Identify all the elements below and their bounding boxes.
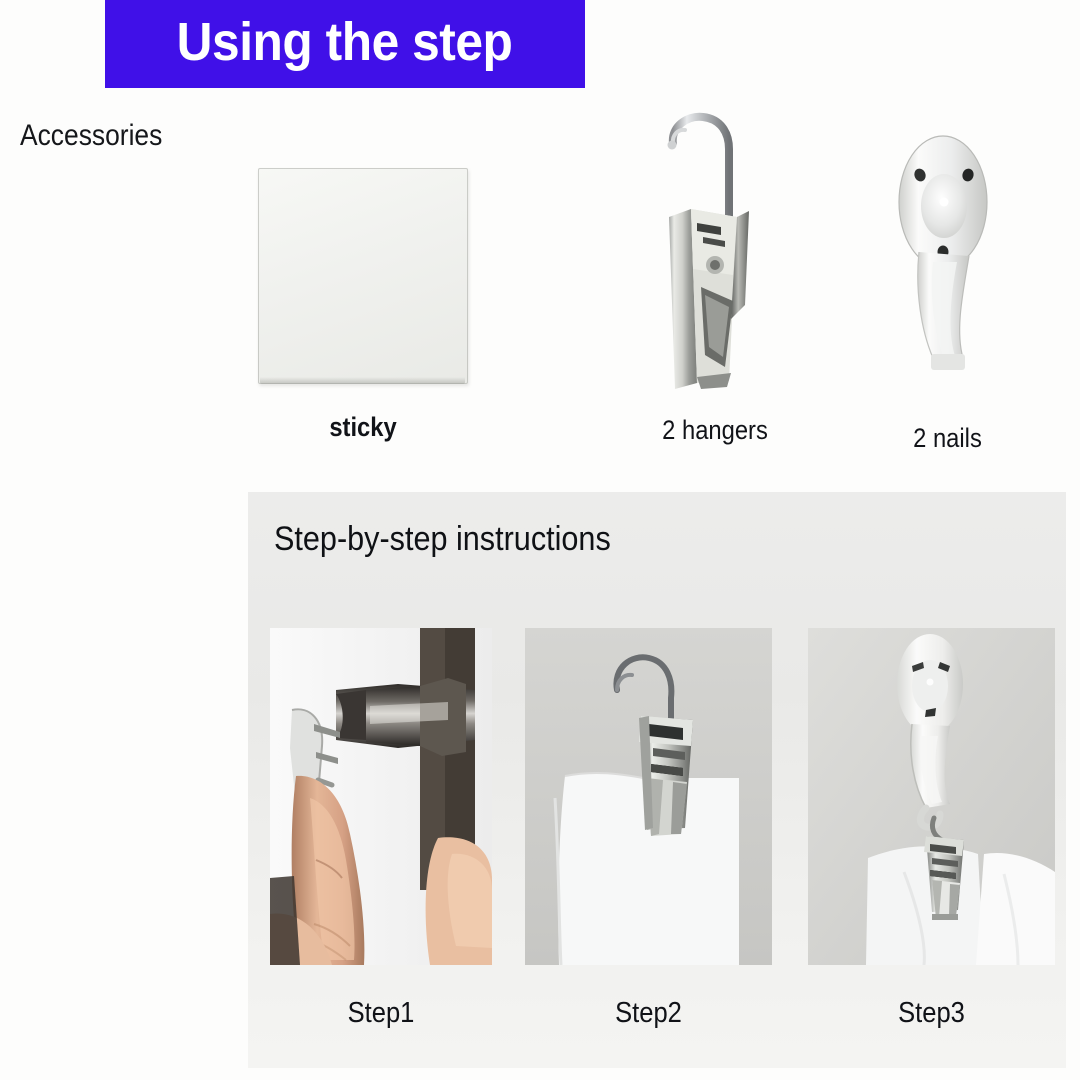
title-banner: Using the step [105,0,585,88]
step-by-step-panel: Step-by-step instructions [248,492,1066,1068]
step2-label: Step2 [540,997,757,1030]
step1-photo [270,628,492,965]
step3-label: Step3 [823,997,1040,1030]
instruction-graphic: Using the step Accessories sticky [0,0,1080,1080]
step3-photo [808,628,1055,965]
step1-label: Step1 [283,997,478,1030]
hanger-clip-icon [645,105,785,390]
accessory-label-sticky: sticky [271,412,456,443]
accessory-label-hangers: 2 hangers [631,415,798,446]
accessory-label-nails: 2 nails [884,423,1012,454]
accessories-heading: Accessories [20,119,162,153]
page-title: Using the step [177,15,513,73]
wall-hook-nail-icon [885,130,1005,380]
step2-photo [525,628,772,965]
step-panel-heading: Step-by-step instructions [274,520,611,559]
adhesive-pad-icon [258,168,468,384]
